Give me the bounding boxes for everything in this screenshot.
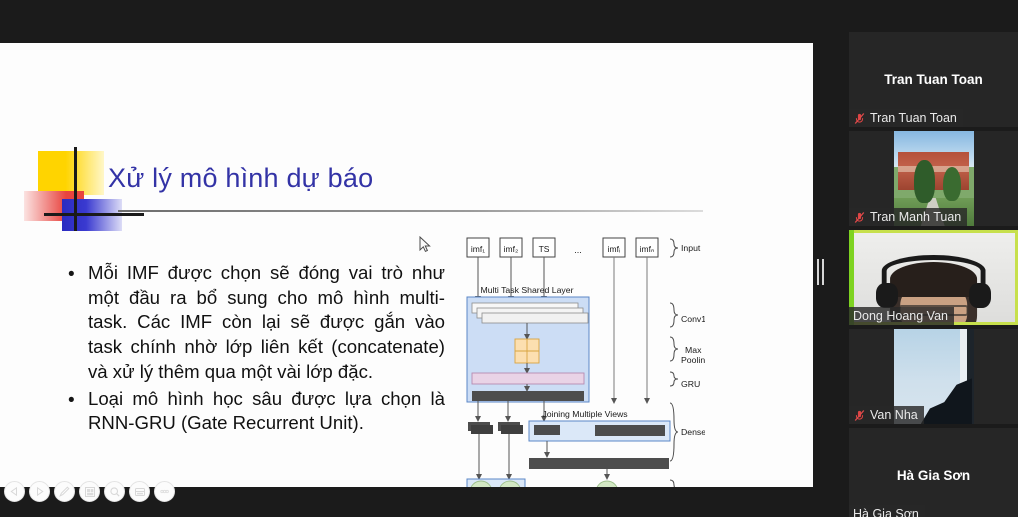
- input-box-label: imfₙ: [640, 244, 655, 254]
- gru-layer: [472, 373, 584, 384]
- participant-video-strip: Tran Tuan Toan Tran Tuan Toan: [849, 0, 1018, 517]
- logo-vertical-line: [74, 147, 77, 231]
- bullet-text: Mỗi IMF được chọn sẽ đóng vai trò như mộ…: [88, 261, 445, 385]
- grid-icon: [84, 486, 96, 498]
- handle-line: [822, 259, 824, 285]
- input-box-label: imf₂: [504, 244, 519, 254]
- participant-tile-tran-manh-tuan[interactable]: Tran Manh Tuan: [849, 131, 1018, 226]
- logo-yellow-block: [38, 151, 104, 195]
- logo-horizontal-line: [44, 213, 144, 216]
- previous-slide-button[interactable]: [4, 481, 25, 502]
- model-architecture-diagram: imf₁ imf₂ TS ... imfᵢ imfₙ: [455, 235, 705, 517]
- list-item: • Loại mô hình học sâu được lựa chọn là …: [60, 387, 445, 436]
- participant-name-label: Hà Gia Sơn: [853, 507, 919, 517]
- triangle-left-icon: [9, 486, 20, 497]
- magnifier-icon: [109, 486, 121, 498]
- triangle-right-icon: [34, 486, 45, 497]
- main-dense-layer: [529, 458, 669, 469]
- participant-tile-dong-hoang-van[interactable]: Dong Hoang Van: [849, 230, 1018, 325]
- shared-slide[interactable]: Xử lý mô hình dự báo • Mỗi IMF được chọn…: [0, 43, 813, 487]
- max-pooling-block: [515, 339, 539, 363]
- participant-name-bar: Dong Hoang Van: [849, 307, 954, 325]
- stage-label-maxpooling: MaxPooling: [681, 345, 705, 365]
- zoom-button[interactable]: [104, 481, 125, 502]
- slide-bullet-list: • Mỗi IMF được chọn sẽ đóng vai trò như …: [60, 261, 445, 438]
- auxiliary-dense-blocks: [468, 422, 523, 434]
- mic-muted-icon: [853, 409, 866, 422]
- presentation-view-button[interactable]: [129, 481, 150, 502]
- participant-name-label: Dong Hoang Van: [853, 309, 948, 323]
- mouse-cursor: [419, 236, 432, 253]
- more-options-button[interactable]: [154, 481, 175, 502]
- slide-title: Xử lý mô hình dự báo: [108, 163, 373, 194]
- diagram-ellipsis: ...: [574, 245, 582, 255]
- participant-name-label: Van Nha: [870, 408, 918, 422]
- shared-dense-layer: [472, 391, 584, 401]
- participant-center-name: Hà Gia Sơn: [849, 428, 1018, 517]
- mic-muted-icon: [853, 211, 866, 224]
- joining-views-label: Joining Multiple Views: [542, 409, 628, 419]
- window-icon: [134, 486, 146, 498]
- panel-resize-handle[interactable]: [816, 258, 825, 286]
- participant-name-bar: Van Nha: [849, 406, 924, 424]
- bullet-dot: •: [68, 388, 75, 413]
- stage-label-input: Input: [681, 243, 701, 253]
- handle-line: [817, 259, 819, 285]
- mic-muted-icon: [853, 112, 866, 125]
- input-box-label: TS: [539, 244, 550, 254]
- participant-tile-tran-tuan-toan[interactable]: Tran Tuan Toan Tran Tuan Toan: [849, 32, 1018, 127]
- annotate-button[interactable]: [54, 481, 75, 502]
- stage-label-gru: GRU: [681, 379, 700, 389]
- participant-name-bar: Tran Tuan Toan: [849, 109, 963, 127]
- conv1d-layers: [472, 303, 588, 323]
- participant-name-label: Tran Manh Tuan: [870, 210, 961, 224]
- next-slide-button[interactable]: [29, 481, 50, 502]
- bullet-dot: •: [68, 262, 75, 287]
- annotation-toolbar[interactable]: [4, 481, 175, 502]
- pen-icon: [58, 485, 71, 498]
- participant-tile-van-nha[interactable]: Van Nha: [849, 329, 1018, 424]
- input-box-label: imfᵢ: [608, 244, 621, 254]
- bullet-text: Loại mô hình học sâu được lựa chọn là RN…: [88, 387, 445, 436]
- slide-layout-button[interactable]: [79, 481, 100, 502]
- participant-name-bar: Tran Manh Tuan: [849, 208, 967, 226]
- participant-tile-ha-gia-son[interactable]: Hà Gia Sơn Hà Gia Sơn: [849, 428, 1018, 517]
- participant-name-bar: Hà Gia Sơn: [849, 505, 925, 517]
- stage-label-conv1d: Conv1D: [681, 314, 705, 324]
- title-underline: [118, 210, 703, 212]
- input-box-label: imf₁: [471, 244, 485, 254]
- meeting-screen-share-window: Xử lý mô hình dự báo • Mỗi IMF được chọn…: [0, 0, 1018, 517]
- ellipsis-icon: [158, 485, 171, 498]
- list-item: • Mỗi IMF được chọn sẽ đóng vai trò như …: [60, 261, 445, 385]
- participant-name-label: Tran Tuan Toan: [870, 111, 957, 125]
- shared-layer-label: Multi Task Shared Layer: [480, 285, 573, 295]
- stage-label-dense: Dense: [681, 427, 705, 437]
- diagram-input-boxes: imf₁ imf₂ TS ... imfᵢ imfₙ: [467, 238, 658, 257]
